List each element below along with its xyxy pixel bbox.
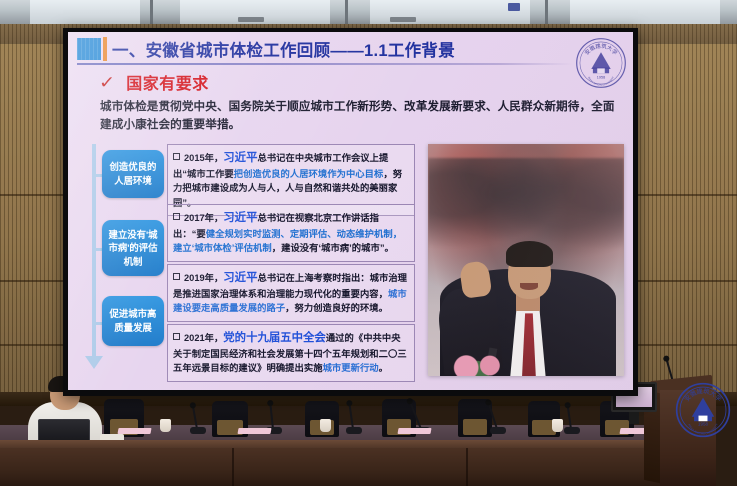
quote-3-name: 习近平 bbox=[223, 272, 257, 284]
photo-flowers bbox=[444, 355, 518, 376]
slide-subtitle: ✓ 国家有要求 bbox=[100, 70, 209, 94]
flow-diagram: 创造优良的人居环境 建立没有'城市病'的评估机制 促进城市高质量发展 bbox=[72, 144, 160, 384]
quote-1-name: 习近平 bbox=[223, 152, 257, 164]
slide-title: 一、安徽省城市体检工作回顾——1.1工作背景 bbox=[112, 37, 455, 61]
university-seal-icon: 1958 安徽建筑大学 ANHUI JIANZHU UNIVERSITY bbox=[574, 36, 628, 90]
photo-hair bbox=[506, 241, 553, 267]
quote-2-year: 2017年， bbox=[184, 213, 223, 223]
flow-box-2[interactable]: 建立没有'城市病'的评估机制 bbox=[102, 220, 164, 276]
checkbox-bullet-icon bbox=[173, 153, 180, 160]
paper-placard bbox=[237, 428, 271, 434]
flow-box-1-label: 创造优良的人居环境 bbox=[105, 160, 161, 187]
svg-text:1958: 1958 bbox=[597, 76, 605, 80]
presentation-slide: 一、安徽省城市体检工作回顾——1.1工作背景 1958 安徽建筑大学 ANHUI… bbox=[68, 32, 633, 390]
header-divider bbox=[77, 63, 573, 65]
quote-4-seg2: 。 bbox=[379, 363, 388, 373]
table-front-panel bbox=[0, 448, 705, 486]
flow-box-3-label: 促进城市高质量发展 bbox=[105, 307, 161, 334]
quote-1-year: 2015年， bbox=[184, 153, 223, 163]
svg-text:1958: 1958 bbox=[698, 422, 708, 427]
lead-paragraph: 城市体检是贯彻党中央、国务院关于顺应城市工作新形势、改革发展新要求、人民群众新期… bbox=[100, 98, 620, 135]
flow-box-2-label: 建立没有'城市病'的评估机制 bbox=[105, 228, 161, 269]
header-square-accent bbox=[77, 38, 101, 60]
cup bbox=[320, 419, 331, 432]
checkbox-bullet-icon bbox=[173, 273, 180, 280]
quote-3-year: 2019年， bbox=[184, 273, 223, 283]
flow-arrow-icon bbox=[85, 356, 103, 369]
quote-box-3: 2019年，习近平总书记在上海考察时指出：城市治理是推进国家治理体系和治理能力现… bbox=[167, 264, 415, 322]
header-bar-accent bbox=[103, 37, 107, 61]
projection-screen-frame: 一、安徽省城市体检工作回顾——1.1工作背景 1958 安徽建筑大学 ANHUI… bbox=[63, 28, 638, 396]
lectern-monitor-stand bbox=[629, 412, 639, 424]
university-seal-icon: 1958 安徽建筑大学 ANHUI JIANZHU UNIVERSITY bbox=[675, 382, 731, 438]
quote-1-highlight: 把创造优良的人居环境作为中心目标 bbox=[234, 169, 384, 179]
quote-box-4: 2021年，党的十九届五中全会通过的《中共中央关于制定国民经济和社会发展第十四个… bbox=[167, 324, 415, 382]
flow-spine bbox=[92, 146, 96, 358]
paper-placard bbox=[397, 428, 431, 434]
quote-4-name: 党的十九届五中全会 bbox=[223, 332, 326, 344]
microphone-base bbox=[190, 427, 206, 434]
checkbox-bullet-icon bbox=[173, 333, 180, 340]
microphone-base bbox=[346, 427, 362, 434]
cup bbox=[552, 419, 563, 432]
flow-box-3[interactable]: 促进城市高质量发展 bbox=[102, 296, 164, 346]
quote-4-year: 2021年， bbox=[184, 333, 223, 343]
checkmark-icon: ✓ bbox=[99, 74, 115, 91]
ceiling bbox=[0, 0, 737, 26]
quote-2-seg2: ，建设没有‘城市病’的城市”。 bbox=[272, 243, 394, 253]
quote-3-seg2: ，努力创造良好的环境。 bbox=[285, 303, 388, 313]
quote-2-name: 习近平 bbox=[223, 212, 257, 224]
checkbox-bullet-icon bbox=[173, 213, 180, 220]
microphone-base bbox=[564, 427, 580, 434]
subtitle-text: 国家有要求 bbox=[126, 70, 209, 94]
slide-header: 一、安徽省城市体检工作回顾——1.1工作背景 bbox=[77, 37, 625, 63]
quote-box-2: 2017年，习近平总书记在视察北京工作讲话指出：“要健全规划实时监测、定期评估、… bbox=[167, 204, 415, 262]
flow-box-1[interactable]: 创造优良的人居环境 bbox=[102, 150, 164, 198]
leader-waving-photo bbox=[428, 144, 624, 376]
cup bbox=[160, 419, 171, 432]
quote-4-highlight: 城市更新行动 bbox=[323, 363, 379, 373]
microphone-base bbox=[490, 427, 506, 434]
